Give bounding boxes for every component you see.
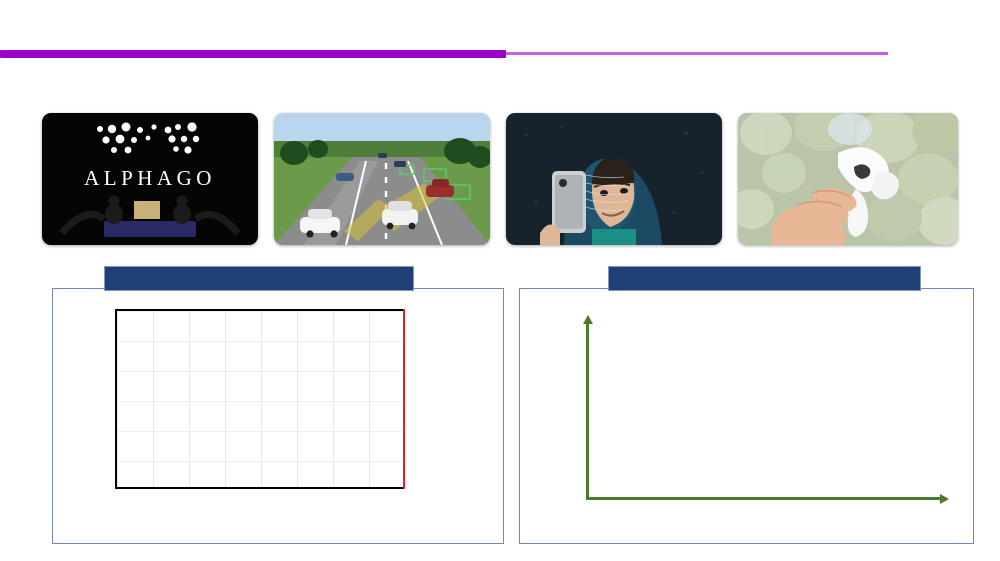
right-panel-header (608, 266, 921, 291)
compute-power-chart (53, 289, 503, 543)
x-axis-arrow-icon (940, 494, 949, 504)
divider-thick-segment (0, 50, 506, 58)
photo-earbud (738, 113, 958, 245)
left-chart-panel (52, 288, 504, 544)
compute-efficiency-chart (520, 289, 973, 543)
divider-thin-segment (506, 52, 888, 55)
photo-alphago: ALPHAGO (42, 113, 258, 245)
photo-face-recognition (506, 113, 722, 245)
left-chart-plot-area (115, 309, 403, 489)
y-axis-arrow-icon (583, 315, 593, 324)
title-divider (0, 48, 888, 60)
svg-text:ALPHAGO: ALPHAGO (84, 166, 216, 190)
photo-autonomous-driving (274, 113, 490, 245)
right-chart-x-axis (586, 497, 944, 500)
left-chart-right-axis (403, 309, 405, 489)
right-chart-panel (519, 288, 974, 544)
left-panel-header (104, 266, 414, 291)
photo-strip: ALPHAGO (42, 113, 958, 245)
right-chart-y-axis (586, 323, 589, 499)
